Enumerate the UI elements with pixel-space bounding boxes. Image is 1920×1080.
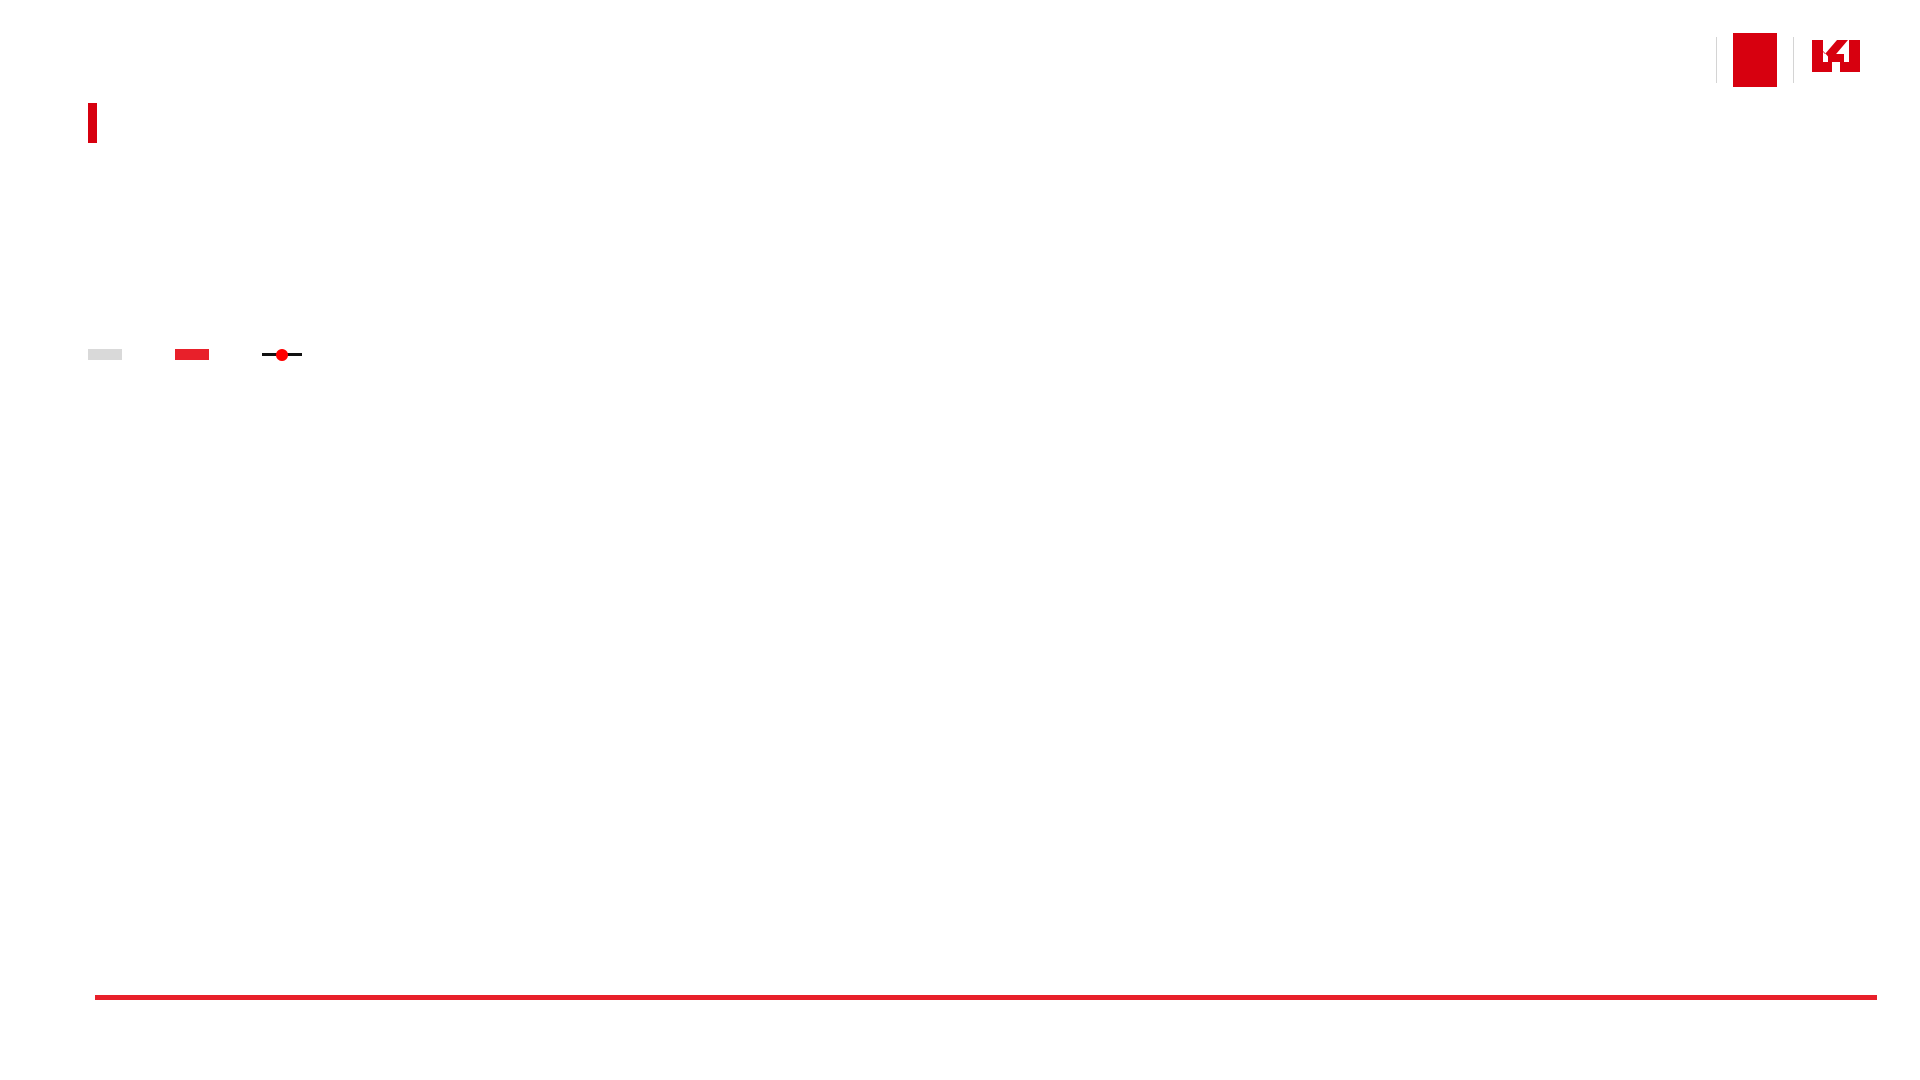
- legend-swatch-mat2020: [88, 349, 122, 360]
- jd-supermarket-logo: [1733, 33, 1777, 87]
- chart-legend: [88, 348, 353, 360]
- legend-item-mat2021: [175, 349, 218, 360]
- slide-headline: [88, 98, 109, 143]
- logo-group: [1682, 30, 1872, 90]
- yjc2m-mark-icon: [1810, 38, 1862, 82]
- charts-container: [0, 385, 1920, 865]
- yjc2m-logo: [1810, 38, 1872, 82]
- elderjoy-logo: [1682, 59, 1700, 61]
- legend-swatch-mat2021: [175, 349, 209, 360]
- headline-accent-bar: [88, 103, 97, 143]
- footer-rule: [95, 995, 1877, 1000]
- legend-item-growth: [262, 348, 309, 360]
- legend-line-marker-icon: [262, 348, 302, 360]
- logo-divider-1: [1716, 37, 1717, 83]
- logo-divider-2: [1793, 37, 1794, 83]
- legend-item-mat2020: [88, 349, 131, 360]
